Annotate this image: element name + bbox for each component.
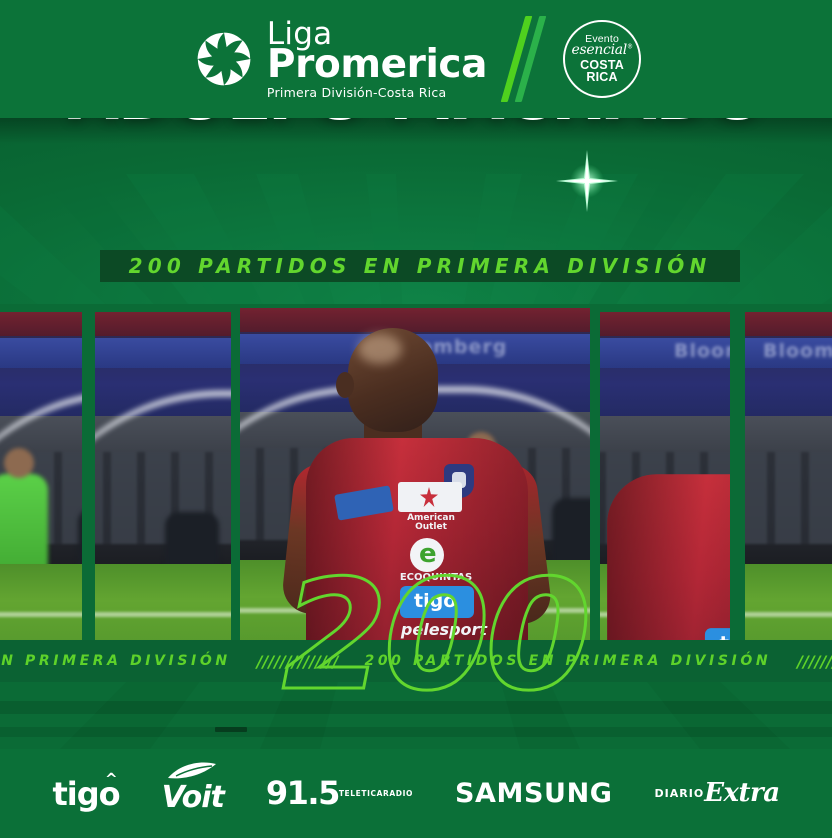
ticker-text-1: 200 PARTIDOS EN PRIMERA DIVISIÓN (0, 653, 231, 669)
sponsor-bar: tigo^ Voit 91.5 TELETICA RADIO SAMSUNG D… (0, 749, 832, 838)
sponsor-diario-extra-logo: DIARIO Extra (655, 782, 780, 806)
brand-tagline: Primera División-Costa Rica (267, 87, 487, 100)
ticker-separator-1: ////////////// (257, 652, 339, 671)
evento-esencial-badge: Evento esencial® COSTA RICA (563, 20, 641, 98)
scrolling-ticker: 200 PARTIDOS EN PRIMERA DIVISIÓN ///////… (0, 640, 832, 682)
player-figure: American Outlet ECOQUINTAS pelesport (292, 314, 562, 649)
sponsor-teletica-radio-logo: 91.5 TELETICA RADIO (266, 778, 413, 809)
radio-name-1: TELETICA (339, 790, 383, 797)
ticker-text-2: 200 PARTIDOS EN PRIMERA DIVISIÓN (364, 653, 771, 669)
brand-header: Liga Promerica Primera División-Costa Ri… (0, 0, 832, 118)
sponsor-tigo-logo: tigo^ (52, 775, 119, 813)
ticker-separator-2: ////////////// (797, 652, 832, 671)
sponsor-samsung-logo: SAMSUNG (455, 778, 613, 809)
brand-wordmark: Liga Promerica Primera División-Costa Ri… (267, 19, 487, 100)
photo-panel-1 (0, 312, 82, 649)
divider-dash (215, 727, 247, 732)
photo-panel-4: Bloomberg (600, 312, 730, 649)
subtitle-text: 200 PARTIDOS EN PRIMERA DIVISIÓN (129, 254, 712, 278)
brand-line-2: Promerica (267, 45, 487, 84)
jersey-sponsor-eco: ECOQUINTAS (388, 572, 484, 583)
liga-promerica-swirl-icon (191, 26, 257, 92)
photo-panel-5: Bloomberg (745, 312, 832, 649)
double-slash-divider-icon (513, 16, 541, 102)
photo-strip: Bloomberg Bloomberg Bloomberg (0, 304, 832, 649)
photo-panel-2: Bloomberg (95, 312, 231, 649)
sponsor-voit-logo: Voit (162, 772, 224, 815)
badge-line-4: RICA (586, 71, 617, 84)
badge-line-2: esencial (571, 42, 627, 58)
jersey-sponsor-american-outlet: American Outlet (396, 514, 466, 533)
jersey-sponsor-tigo (400, 586, 474, 618)
ray-burst-decor (0, 174, 832, 304)
voit-leaf-icon (166, 762, 218, 782)
subtitle-banner: 200 PARTIDOS EN PRIMERA DIVISIÓN (100, 250, 740, 282)
jersey-sponsor-pelesport: pelesport (384, 620, 504, 639)
extra-label: Extra (704, 780, 779, 806)
graphic-canvas: Bloomberg Bloomberg Bloomberg (0, 0, 832, 838)
radio-name-2: RADIO (383, 790, 413, 797)
diario-label: DIARIO (655, 788, 705, 799)
badge-registered: ® (627, 44, 633, 51)
radio-frequency: 91.5 (266, 778, 339, 809)
photo-panel-main: Bloomberg Bloomberg (240, 308, 590, 649)
